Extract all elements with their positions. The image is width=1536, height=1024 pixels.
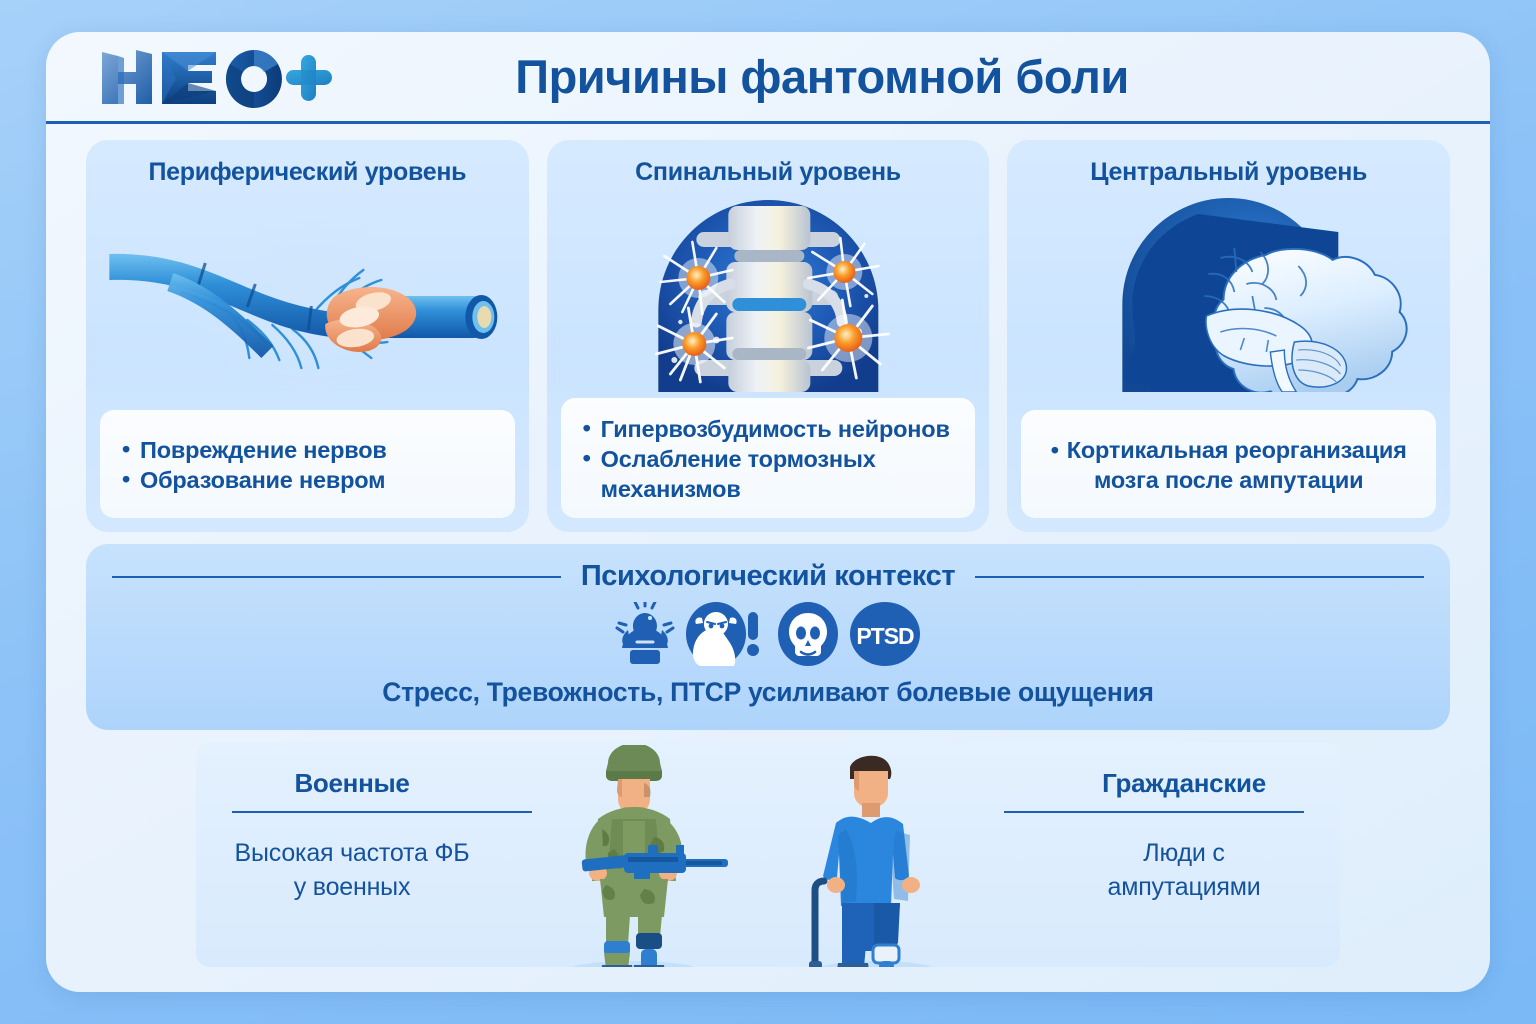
level-bullet-list: Гипервозбудимость нейронов Ослабление то… xyxy=(561,398,976,518)
psychological-heading-row: Психологический контекст xyxy=(86,560,1450,593)
group-description: Высокая частота ФБ у военных xyxy=(232,837,472,905)
level-bullet-list: Кортикальная реорганизация мозга после а… xyxy=(1021,410,1436,518)
group-heading: Военные xyxy=(232,768,472,799)
group-divider xyxy=(1004,811,1304,813)
svg-text:PTSD: PTSD xyxy=(856,623,914,649)
ptsd-badge-icon: PTSD xyxy=(848,602,922,666)
group-description: Люди с ампутациями xyxy=(1064,837,1304,905)
soldier-with-prosthetic-leg-illustration xyxy=(528,745,738,967)
infographic-panel: Причины фантомной боли Периферический ур… xyxy=(46,32,1490,992)
divider-left xyxy=(112,576,561,578)
neo-plus-logo xyxy=(96,46,334,108)
levels-row: Периферический уровень xyxy=(86,140,1450,532)
psychological-context-section: Психологический контекст xyxy=(86,544,1450,730)
anxious-person-exclamation-icon xyxy=(684,602,768,666)
level-card-title: Центральный уровень xyxy=(1007,158,1450,187)
group-divider xyxy=(232,811,532,813)
group-text-block: Гражданские Люди с ампутациями xyxy=(1064,768,1304,905)
group-text-block: Военные Высокая частота ФБ у военных xyxy=(232,768,472,905)
list-item: Ослабление тормозных механизмов xyxy=(579,444,958,504)
population-groups: Военные Высокая частота ФБ у военных xyxy=(196,742,1340,967)
group-heading: Гражданские xyxy=(1064,768,1304,799)
group-civilian[interactable]: Гражданские Люди с ампутациями xyxy=(768,742,1340,967)
psychological-caption: Стресс, Тревожность, ПТСР усиливают боле… xyxy=(86,677,1450,708)
level-card-title: Спинальный уровень xyxy=(547,158,990,187)
stressed-person-icon xyxy=(614,602,676,666)
divider-right xyxy=(975,576,1424,578)
page-title: Причины фантомной боли xyxy=(334,49,1310,104)
spinal-cord-neurons-illustration xyxy=(547,192,990,392)
level-card-peripheral[interactable]: Периферический уровень xyxy=(86,140,529,532)
skull-icon xyxy=(776,602,840,666)
damaged-nerve-illustration xyxy=(86,192,529,392)
brain-head-illustration xyxy=(1007,192,1450,392)
level-card-title: Периферический уровень xyxy=(86,158,529,187)
civilian-with-cane-and-prosthetic-leg-illustration xyxy=(784,745,964,967)
level-card-spinal[interactable]: Спинальный уровень xyxy=(547,140,990,532)
list-item: Гипервозбудимость нейронов xyxy=(579,414,958,444)
header: Причины фантомной боли xyxy=(46,32,1490,124)
list-item: Образование невром xyxy=(118,465,497,495)
psychological-icon-row: PTSD xyxy=(86,601,1450,667)
level-bullet-list: Повреждение нервов Образование невром xyxy=(100,410,515,518)
list-item: Повреждение нервов xyxy=(118,435,497,465)
list-item: Кортикальная реорганизация мозга после а… xyxy=(1039,435,1418,495)
section-heading: Психологический контекст xyxy=(561,560,975,593)
group-military[interactable]: Военные Высокая частота ФБ у военных xyxy=(196,742,768,967)
level-card-central[interactable]: Центральный уровень xyxy=(1007,140,1450,532)
